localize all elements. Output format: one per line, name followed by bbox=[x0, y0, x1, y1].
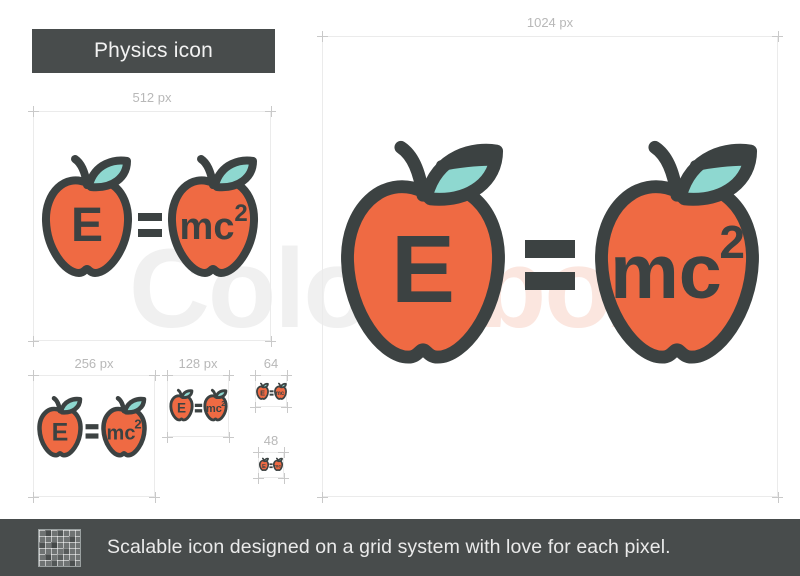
apple-icon-e-512: E bbox=[39, 155, 135, 280]
dim-label-512: 512 px bbox=[33, 90, 271, 105]
apple-icon-e-128: E bbox=[169, 389, 194, 422]
apple-label-mc-64: mc bbox=[276, 391, 285, 397]
apple-label-mc-1024: mc bbox=[610, 229, 722, 315]
dim-label-256: 256 px bbox=[33, 356, 155, 371]
apple-label-mc-128: mc bbox=[206, 403, 222, 415]
icon-pair-1024: E mc 2 bbox=[327, 140, 773, 370]
apple-label-sup-128: 2 bbox=[221, 399, 225, 408]
equals-icon-128 bbox=[194, 389, 203, 422]
footer-bar: Scalable icon designed on a grid system … bbox=[0, 519, 800, 576]
pixel-grid-icon bbox=[38, 529, 81, 567]
equals-icon-256 bbox=[84, 396, 100, 459]
equals-icon-512 bbox=[135, 155, 165, 280]
apple-label-e-1024: E bbox=[391, 216, 455, 323]
apple-icon-mc2-64: mc bbox=[274, 383, 287, 400]
apple-icon-e-256: E bbox=[36, 396, 84, 459]
dim-label-128: 128 px bbox=[167, 356, 229, 371]
apple-label-mc-48: mc bbox=[274, 465, 281, 470]
apple-label-e-256: E bbox=[52, 418, 69, 446]
apple-icon-e-64: E bbox=[256, 383, 269, 400]
dim-label-48: 48 bbox=[258, 433, 284, 448]
apple-label-sup-256: 2 bbox=[134, 416, 141, 431]
apple-label-e-128: E bbox=[177, 401, 186, 416]
page-title: Physics icon bbox=[32, 29, 275, 73]
divider bbox=[0, 508, 800, 509]
apple-icon-mc2-48: mc bbox=[273, 458, 283, 471]
apple-label-mc-256: mc bbox=[107, 422, 136, 444]
icon-pair-256: E mc 2 bbox=[36, 396, 148, 459]
apple-icon-mc2-1024: mc 2 bbox=[581, 140, 773, 370]
footer-caption: Scalable icon designed on a grid system … bbox=[107, 536, 671, 559]
apple-icon-mc2-512: mc 2 bbox=[165, 155, 261, 280]
apple-icon-e-48: E bbox=[259, 458, 269, 471]
dim-label-64: 64 bbox=[255, 356, 287, 371]
icon-pair-48: E mc bbox=[259, 458, 283, 471]
artboard: Physics icon Colourbox 512 px E bbox=[0, 0, 800, 576]
icon-pair-512: E mc 2 bbox=[39, 155, 261, 280]
icon-pair-64: E mc bbox=[256, 383, 287, 400]
icon-pair-128: E mc 2 bbox=[169, 389, 228, 422]
dim-label-1024: 1024 px bbox=[322, 15, 778, 30]
apple-icon-e-1024: E bbox=[327, 140, 519, 370]
apple-label-e-48: E bbox=[262, 464, 266, 470]
apple-icon-mc2-128: mc 2 bbox=[203, 389, 228, 422]
apple-icon-mc2-256: mc 2 bbox=[100, 396, 148, 459]
apple-label-sup-512: 2 bbox=[234, 200, 247, 227]
page-title-label: Physics icon bbox=[94, 39, 213, 63]
apple-label-mc-512: mc bbox=[180, 206, 235, 248]
apple-label-e-64: E bbox=[260, 388, 265, 397]
equals-icon-1024 bbox=[519, 140, 581, 370]
apple-label-e-512: E bbox=[71, 199, 103, 252]
apple-label-sup-1024: 2 bbox=[719, 216, 745, 268]
